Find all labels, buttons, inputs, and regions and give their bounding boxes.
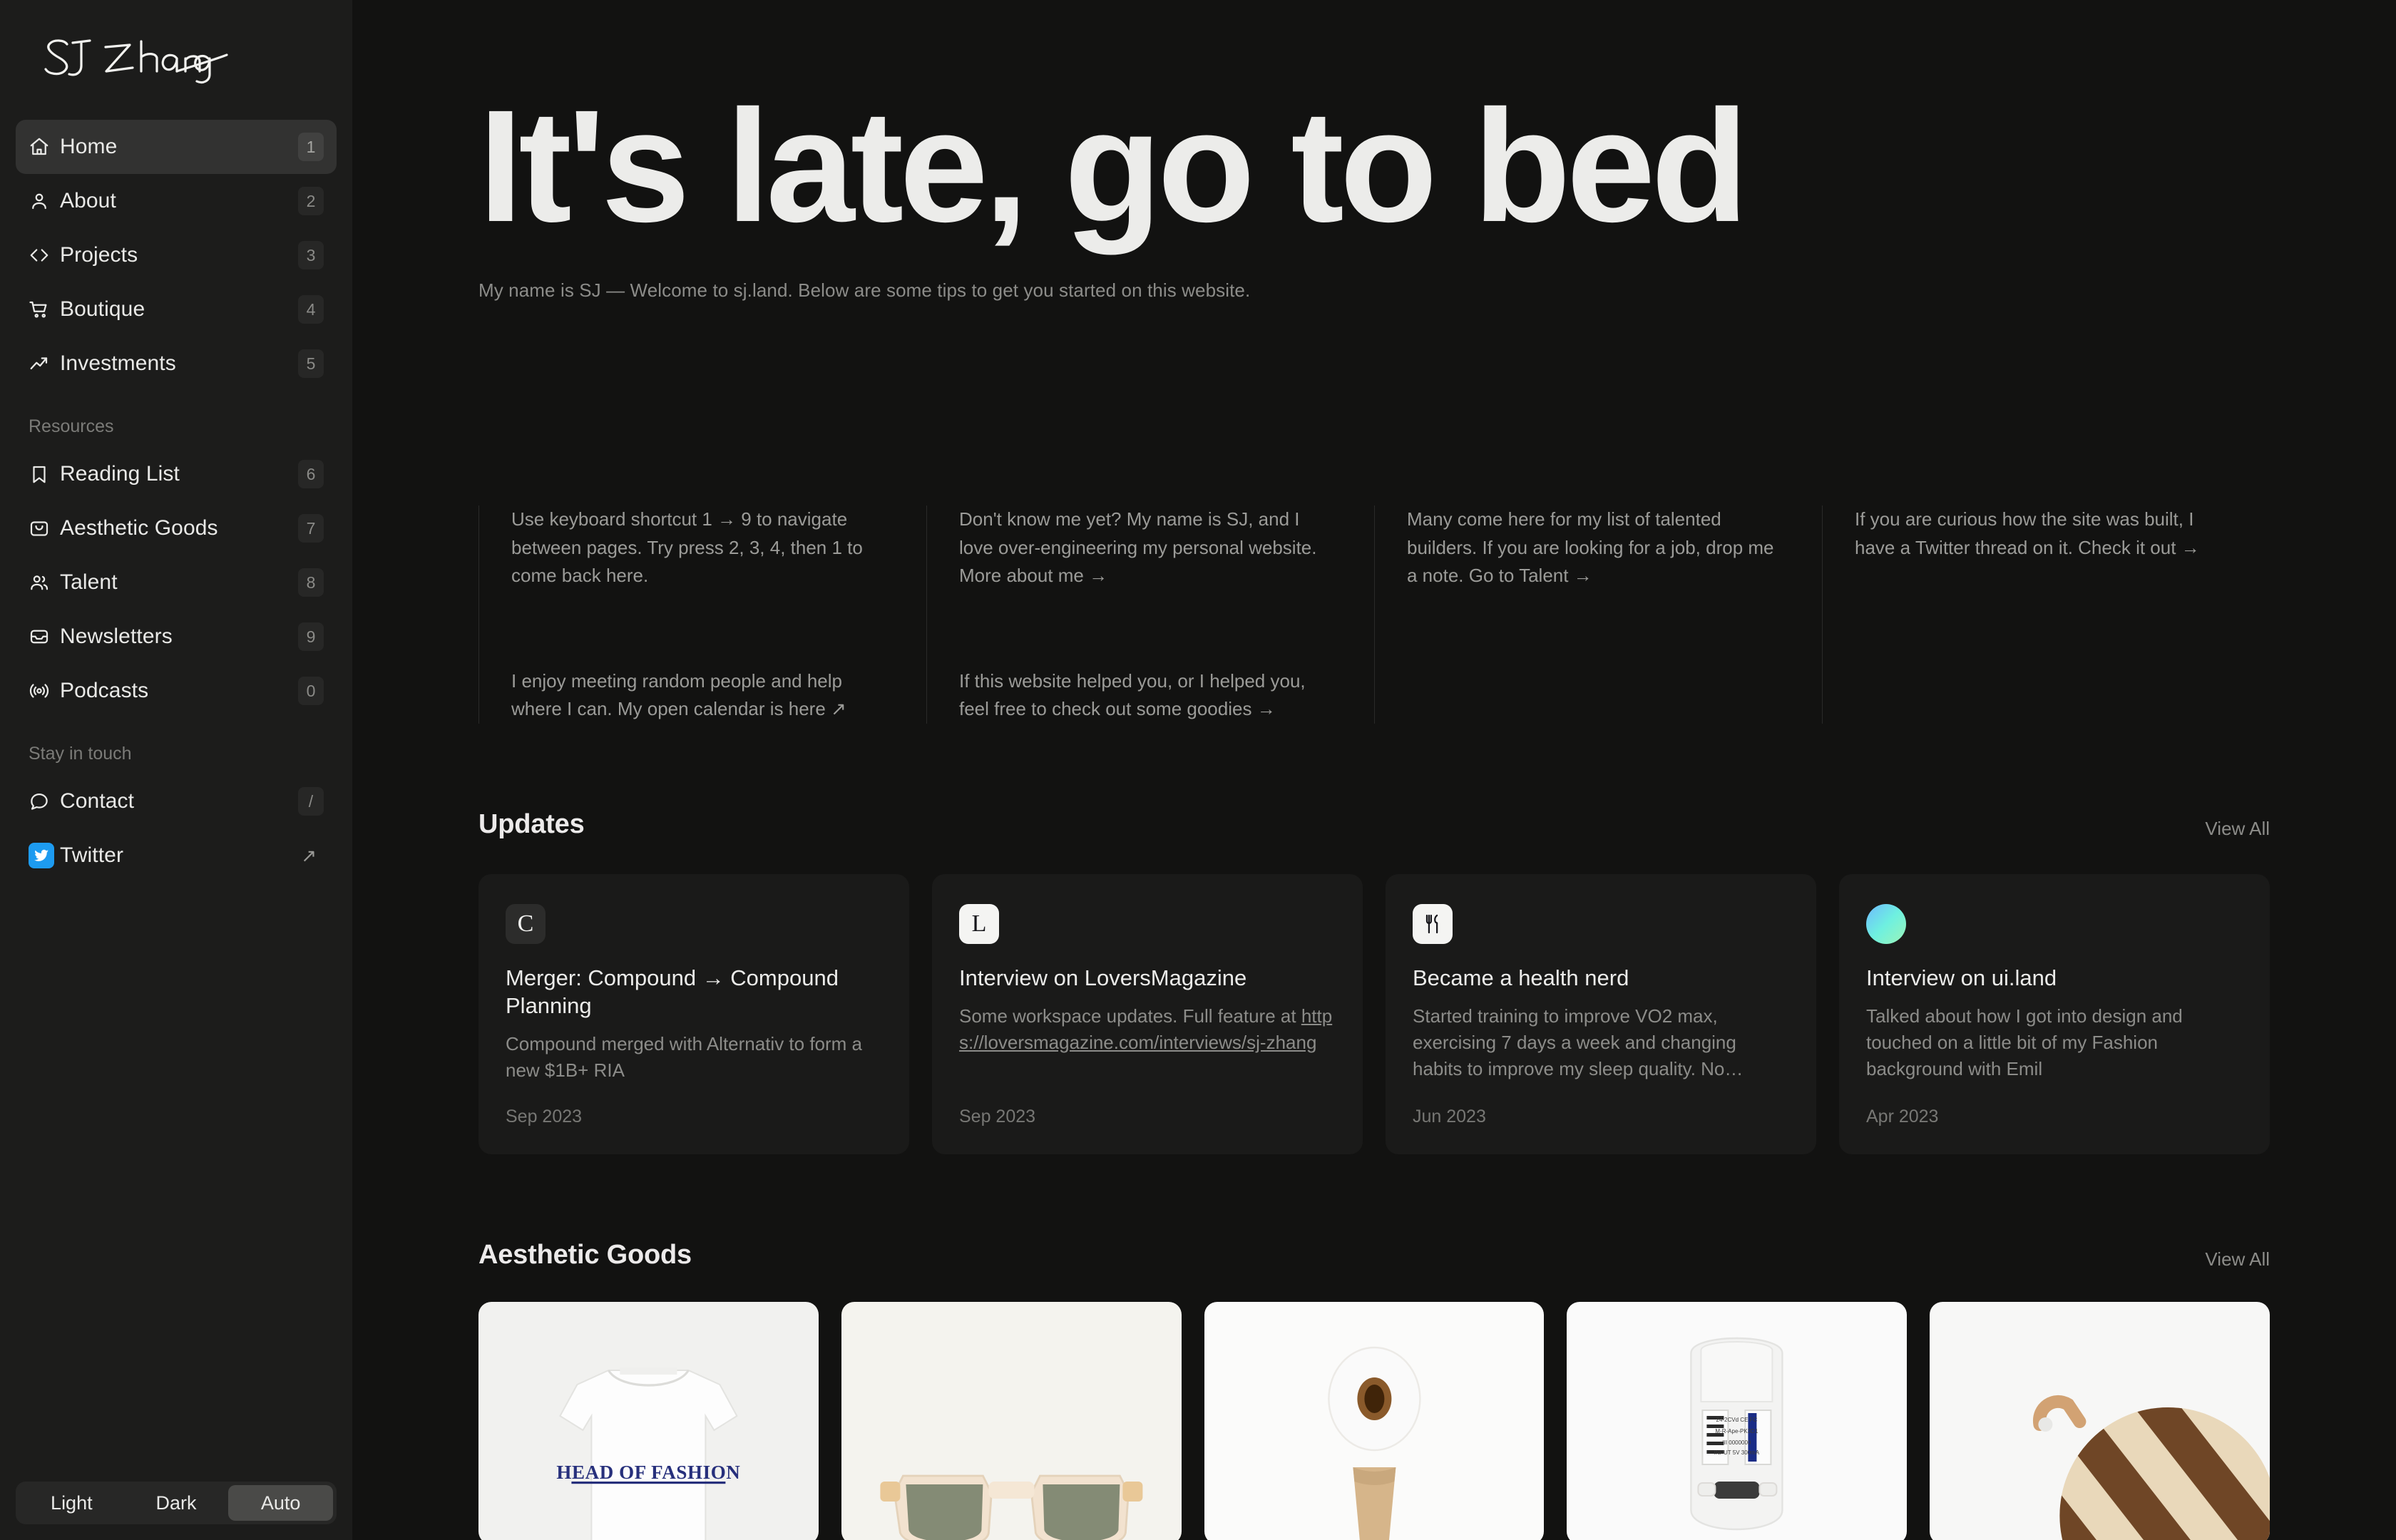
update-card-description: Talked about how I got into design and t… xyxy=(1866,1003,2243,1082)
update-card[interactable]: Interview on ui.land Talked about how I … xyxy=(1839,874,2270,1154)
sidebar-item-shortcut: 2 xyxy=(298,187,324,215)
updates-section-header: Updates View All xyxy=(478,809,2270,840)
theme-option-auto[interactable]: Auto xyxy=(228,1485,333,1521)
sidebar-item-label: Boutique xyxy=(60,297,145,322)
sunglasses-icon xyxy=(841,1302,1182,1540)
sidebar-item-boutique[interactable]: Boutique 4 xyxy=(16,282,337,337)
stay-in-touch-nav: Contact / Twitter ↗ xyxy=(16,774,337,883)
tips-grid: Use keyboard shortcut 1 → 9 to navigate … xyxy=(478,505,2270,724)
striped-cutting-board-icon xyxy=(1930,1302,2270,1540)
code-brackets-icon xyxy=(29,245,60,266)
tip-text[interactable]: I enjoy meeting random people and help w… xyxy=(511,667,887,724)
sidebar-item-about[interactable]: About 2 xyxy=(16,174,337,228)
sidebar-item-label: Contact xyxy=(60,789,134,813)
sidebar-item-newsletters[interactable]: Newsletters 9 xyxy=(16,610,337,664)
twitter-badge xyxy=(29,843,54,868)
inbox-icon xyxy=(29,626,60,647)
sidebar-item-label: Newsletters xyxy=(60,625,173,649)
page-title: It's late, go to bed xyxy=(478,93,2270,240)
goods-view-all-link[interactable]: View All xyxy=(2205,1248,2270,1270)
update-card-description: Started training to improve VO2 max, exe… xyxy=(1413,1003,1789,1082)
tip-column: Don't know me yet? My name is SJ, and I … xyxy=(926,505,1374,724)
update-card-title: Became a health nerd xyxy=(1413,964,1789,992)
update-card-date: Jun 2023 xyxy=(1413,1084,1789,1127)
goods-card-sunglasses[interactable] xyxy=(841,1302,1182,1540)
svg-text:INPUT 5V 300mA: INPUT 5V 300mA xyxy=(1714,1449,1760,1456)
sidebar-item-label: Twitter xyxy=(60,843,123,868)
update-card-description: Some workspace updates. Full feature at … xyxy=(959,1003,1336,1056)
sidebar-item-label: About xyxy=(60,189,116,213)
chat-bubble-icon xyxy=(29,791,60,812)
fork-knife-icon xyxy=(1413,904,1453,944)
external-link-arrow-icon: ↗ xyxy=(294,841,324,870)
person-icon xyxy=(29,190,60,212)
shopping-bag-icon xyxy=(29,518,60,539)
sidebar-item-shortcut: 8 xyxy=(298,568,324,597)
sidebar-item-label: Projects xyxy=(60,243,138,267)
sidebar-item-shortcut: 0 xyxy=(298,677,324,705)
update-card[interactable]: L Interview on LoversMagazine Some works… xyxy=(932,874,1363,1154)
shopping-cart-icon xyxy=(29,299,60,320)
tip-text[interactable]: If you are curious how the site was buil… xyxy=(1855,505,2231,562)
home-icon xyxy=(29,136,60,158)
tip-column: Use keyboard shortcut 1 → 9 to navigate … xyxy=(478,505,926,724)
white-tshirt-icon: HEAD OF FASHION xyxy=(478,1302,819,1540)
trending-up-icon xyxy=(29,353,60,374)
sidebar-item-label: Reading List xyxy=(60,462,180,486)
sidebar-item-reading-list[interactable]: Reading List 6 xyxy=(16,447,337,501)
goods-section-header: Aesthetic Goods View All xyxy=(478,1240,2270,1270)
users-icon xyxy=(29,572,60,593)
goods-title: Aesthetic Goods xyxy=(478,1240,692,1270)
sidebar-item-podcasts[interactable]: Podcasts 0 xyxy=(16,664,337,718)
sidebar-item-shortcut: 4 xyxy=(298,295,324,324)
update-card-title: Interview on LoversMagazine xyxy=(959,964,1336,992)
sidebar-item-projects[interactable]: Projects 3 xyxy=(16,228,337,282)
update-card-title: Merger: Compound → Compound Planning xyxy=(506,964,882,1020)
primary-nav: Home 1 About 2 Projects 3 Boutique 4 xyxy=(16,120,337,391)
goods-card-wireless-mouse[interactable]: 24-2CVd CE FC M-R-Ape-PK3D1 III 0000000 … xyxy=(1567,1302,1907,1540)
sidebar-item-shortcut: 3 xyxy=(298,241,324,269)
sidebar-item-shortcut: 5 xyxy=(298,349,324,378)
wireless-mouse-icon: 24-2CVd CE FC M-R-Ape-PK3D1 III 0000000 … xyxy=(1567,1302,1907,1540)
update-card-date: Sep 2023 xyxy=(506,1084,882,1127)
sidebar-item-shortcut: 7 xyxy=(298,514,324,543)
sidebar-item-label: Aesthetic Goods xyxy=(60,516,218,540)
page-subtitle: My name is SJ — Welcome to sj.land. Belo… xyxy=(478,279,2270,302)
coffee-dripper-icon xyxy=(1204,1302,1545,1540)
goods-grid: HEAD OF FASHION xyxy=(478,1302,2270,1540)
theme-option-light[interactable]: Light xyxy=(19,1485,124,1521)
sidebar-group-title-stay-in-touch: Stay in touch xyxy=(16,718,337,774)
sidebar-item-label: Investments xyxy=(60,351,176,376)
sidebar-group-title-resources: Resources xyxy=(16,391,337,447)
goods-card-pour-over-dripper[interactable] xyxy=(1204,1302,1545,1540)
sidebar-item-shortcut: 6 xyxy=(298,460,324,488)
sidebar-item-contact[interactable]: Contact / xyxy=(16,774,337,828)
sidebar-item-label: Home xyxy=(60,135,117,159)
site-logo[interactable] xyxy=(16,0,337,120)
svg-text:III 0000000: III 0000000 xyxy=(1723,1439,1752,1446)
svg-text:HEAD OF FASHION: HEAD OF FASHION xyxy=(556,1462,740,1483)
sidebar-item-shortcut: / xyxy=(298,787,324,816)
goods-card-cutting-board[interactable] xyxy=(1930,1302,2270,1540)
svg-text:24-2CVd CE FC: 24-2CVd CE FC xyxy=(1716,1417,1758,1423)
sidebar-item-aesthetic-goods[interactable]: Aesthetic Goods 7 xyxy=(16,501,337,555)
update-card-title: Interview on ui.land xyxy=(1866,964,2243,992)
twitter-icon xyxy=(29,843,60,868)
goods-card-tshirt[interactable]: HEAD OF FASHION xyxy=(478,1302,819,1540)
tip-text[interactable]: Many come here for my list of talented b… xyxy=(1407,505,1783,590)
resources-nav: Reading List 6 Aesthetic Goods 7 Talent … xyxy=(16,447,337,718)
sidebar: Home 1 About 2 Projects 3 Boutique 4 xyxy=(0,0,352,1540)
update-card[interactable]: Became a health nerd Started training to… xyxy=(1386,874,1816,1154)
bookmark-icon xyxy=(29,463,60,485)
sidebar-item-label: Talent xyxy=(60,570,118,595)
theme-option-dark[interactable]: Dark xyxy=(124,1485,229,1521)
updates-view-all-link[interactable]: View All xyxy=(2205,818,2270,840)
tip-column: Many come here for my list of talented b… xyxy=(1374,505,1822,724)
main-content: It's late, go to bed My name is SJ — Wel… xyxy=(352,0,2396,1540)
sidebar-item-twitter[interactable]: Twitter ↗ xyxy=(16,828,337,883)
update-card[interactable]: C Merger: Compound → Compound Planning C… xyxy=(478,874,909,1154)
updates-title: Updates xyxy=(478,809,585,840)
tip-column: If you are curious how the site was buil… xyxy=(1822,505,2270,724)
sidebar-item-label: Podcasts xyxy=(60,679,148,703)
tip-text[interactable]: If this website helped you, or I helped … xyxy=(959,667,1335,724)
update-card-date: Sep 2023 xyxy=(959,1084,1336,1127)
gradient-circle-icon xyxy=(1866,904,1906,944)
compound-logo-icon: C xyxy=(506,904,546,944)
update-card-description: Compound merged with Alternativ to form … xyxy=(506,1031,882,1084)
broadcast-icon xyxy=(29,680,60,702)
svg-text:M-R-Ape-PK3D1: M-R-Ape-PK3D1 xyxy=(1716,1428,1759,1434)
sidebar-item-talent[interactable]: Talent 8 xyxy=(16,555,337,610)
sidebar-item-shortcut: 1 xyxy=(298,133,324,161)
sidebar-item-investments[interactable]: Investments 5 xyxy=(16,337,337,391)
tip-text[interactable]: Use keyboard shortcut 1 → 9 to navigate … xyxy=(511,505,887,590)
tip-text[interactable]: Don't know me yet? My name is SJ, and I … xyxy=(959,505,1335,590)
sidebar-item-shortcut: 9 xyxy=(298,622,324,651)
update-card-description-text: Some workspace updates. Full feature at xyxy=(959,1005,1301,1027)
sidebar-item-home[interactable]: Home 1 xyxy=(16,120,337,174)
sj-zhang-signature-icon xyxy=(37,31,230,88)
loversmagazine-logo-icon: L xyxy=(959,904,999,944)
update-card-date: Apr 2023 xyxy=(1866,1084,2243,1127)
updates-grid: C Merger: Compound → Compound Planning C… xyxy=(478,874,2270,1154)
theme-switcher[interactable]: Light Dark Auto xyxy=(16,1482,337,1524)
